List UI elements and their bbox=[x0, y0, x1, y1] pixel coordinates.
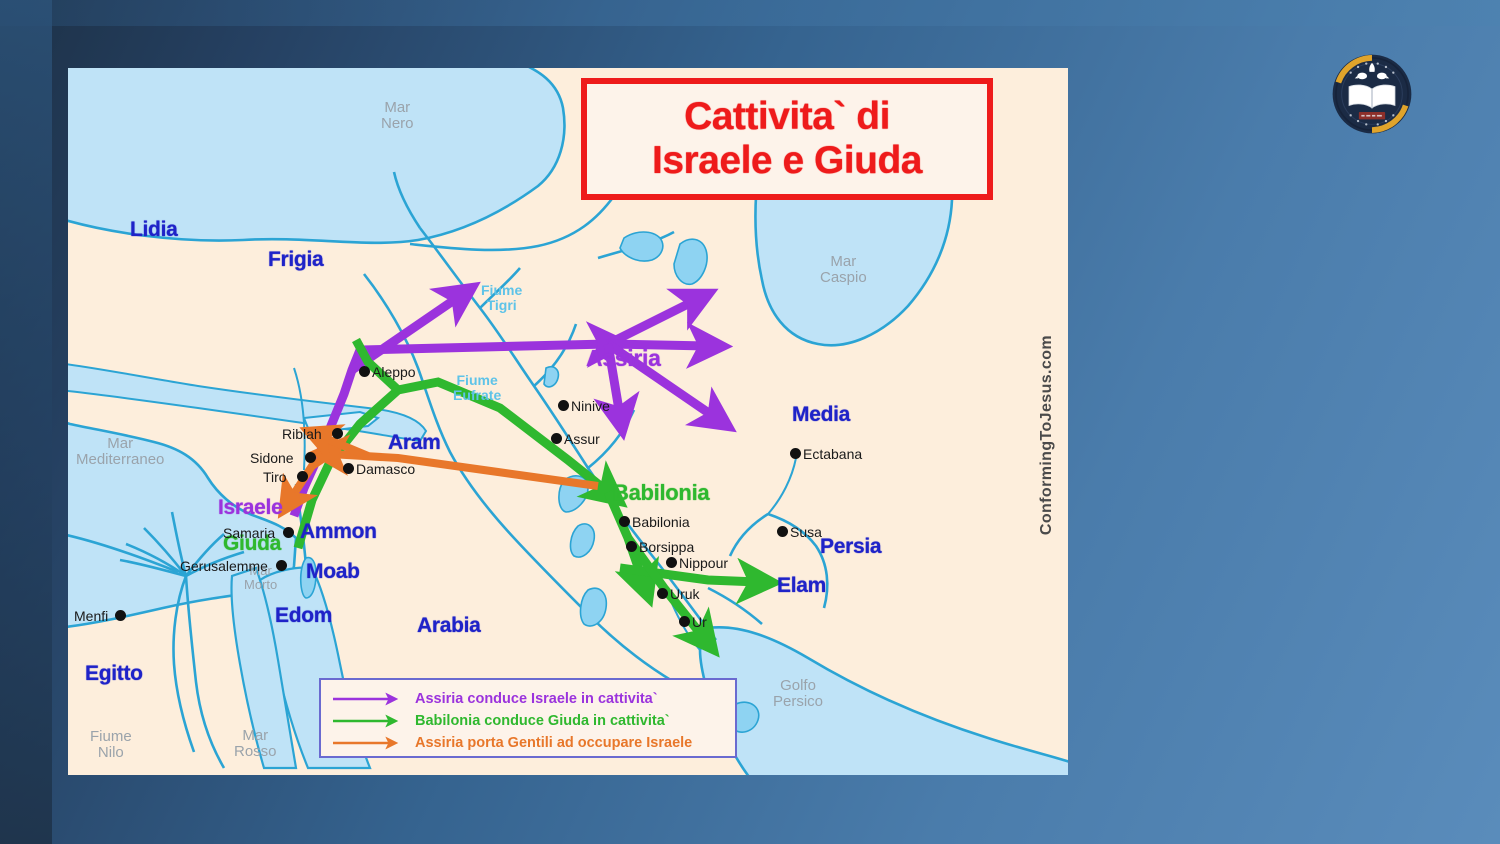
city-dot-riblah bbox=[332, 428, 343, 439]
city-dot-babilonia bbox=[619, 516, 630, 527]
watermark-text: ConformingToJesus.com bbox=[1038, 335, 1056, 535]
city-dot-ur bbox=[679, 616, 690, 627]
legend-item-babylon-judah: Babilonia conduce Giuda in cattivita` bbox=[331, 710, 725, 732]
top-gradient-band bbox=[0, 0, 1500, 26]
legend-item-assyria-israel: Assiria conduce Israele in cattivita` bbox=[331, 688, 725, 710]
city-dot-aleppo bbox=[359, 366, 370, 377]
left-gradient-band bbox=[0, 0, 52, 844]
map-title-box: Cattivita` di Israele e Giuda bbox=[581, 78, 993, 200]
city-dot-nippour bbox=[666, 557, 677, 568]
city-dot-susa bbox=[777, 526, 788, 537]
map-title-line-1: Cattivita` di bbox=[684, 95, 890, 139]
slide-background: MarNero MarCaspio MarMediterraneo MarMor… bbox=[0, 0, 1500, 844]
legend-arrow-purple-icon bbox=[331, 691, 413, 707]
legend-arrow-green-icon bbox=[331, 713, 413, 729]
green-captivity-arrows bbox=[298, 340, 758, 638]
legend-label-assyria-israel: Assiria conduce Israele in cattivita` bbox=[415, 691, 658, 707]
city-dot-samaria bbox=[283, 527, 294, 538]
historical-map: MarNero MarCaspio MarMediterraneo MarMor… bbox=[68, 68, 1068, 775]
legend-arrow-orange-icon bbox=[331, 735, 413, 751]
city-dot-tiro bbox=[297, 471, 308, 482]
city-dot-ectabana bbox=[790, 448, 801, 459]
city-dot-gerusalemme bbox=[276, 560, 287, 571]
map-title-line-2: Israele e Giuda bbox=[652, 139, 922, 183]
map-legend: Assiria conduce Israele in cattivita` Ba… bbox=[319, 678, 737, 758]
legend-label-babylon-judah: Babilonia conduce Giuda in cattivita` bbox=[415, 713, 670, 729]
city-dot-damasco bbox=[343, 463, 354, 474]
conforming-to-jesus-emblem-logo bbox=[1331, 53, 1413, 135]
legend-label-gentiles-israel: Assiria porta Gentili ad occupare Israel… bbox=[415, 735, 692, 751]
city-dot-borsippa bbox=[626, 541, 637, 552]
city-dot-uruk bbox=[657, 588, 668, 599]
city-dot-assur bbox=[551, 433, 562, 444]
city-dot-ninive bbox=[558, 400, 569, 411]
legend-item-gentiles-israel: Assiria porta Gentili ad occupare Israel… bbox=[331, 732, 725, 754]
city-dot-menfi bbox=[115, 610, 126, 621]
city-dot-sidone bbox=[305, 452, 316, 463]
